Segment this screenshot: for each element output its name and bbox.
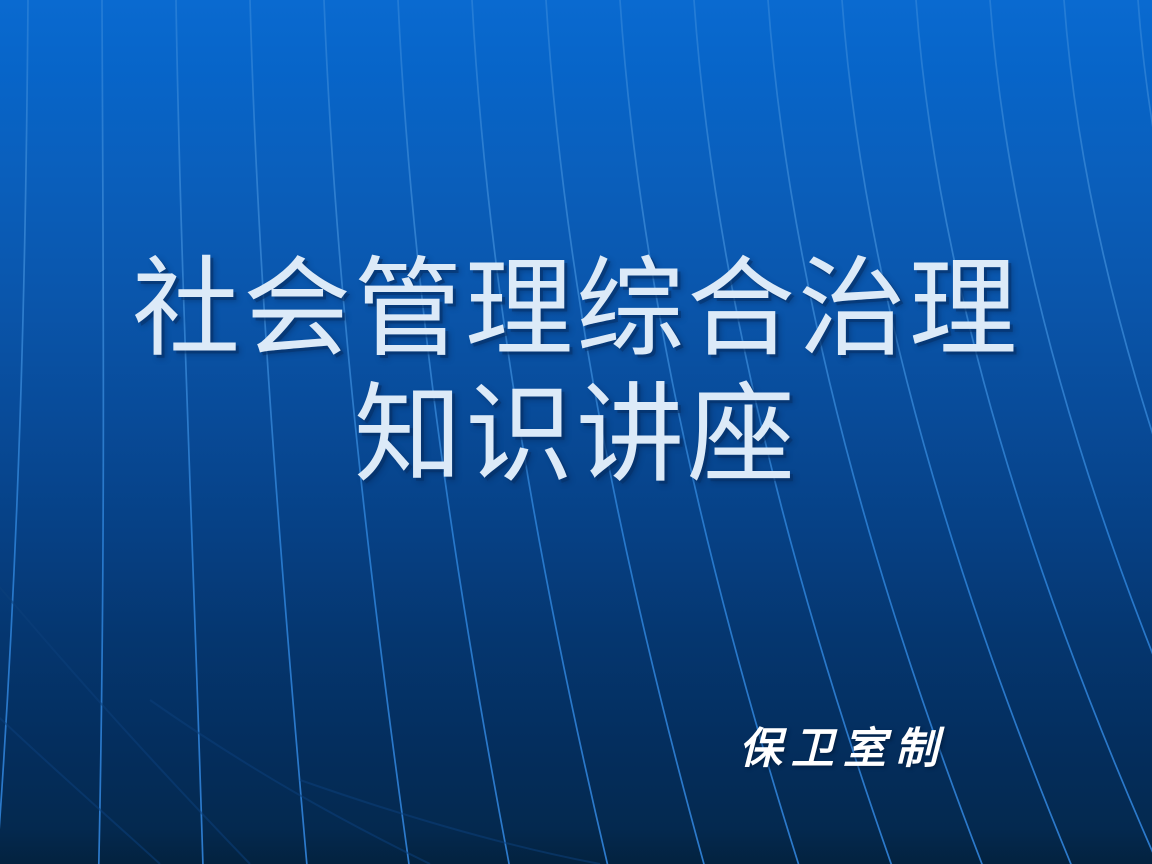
- slide-canvas: 社会管理综合治理 知识讲座 保卫室制: [0, 0, 1152, 864]
- title-line-2: 知识讲座: [0, 374, 1152, 500]
- title-line-1: 社会管理综合治理: [0, 248, 1152, 374]
- slide-content: 社会管理综合治理 知识讲座 保卫室制: [0, 0, 1152, 864]
- slide-title: 社会管理综合治理 知识讲座: [0, 248, 1152, 500]
- slide-byline: 保卫室制: [0, 722, 1152, 776]
